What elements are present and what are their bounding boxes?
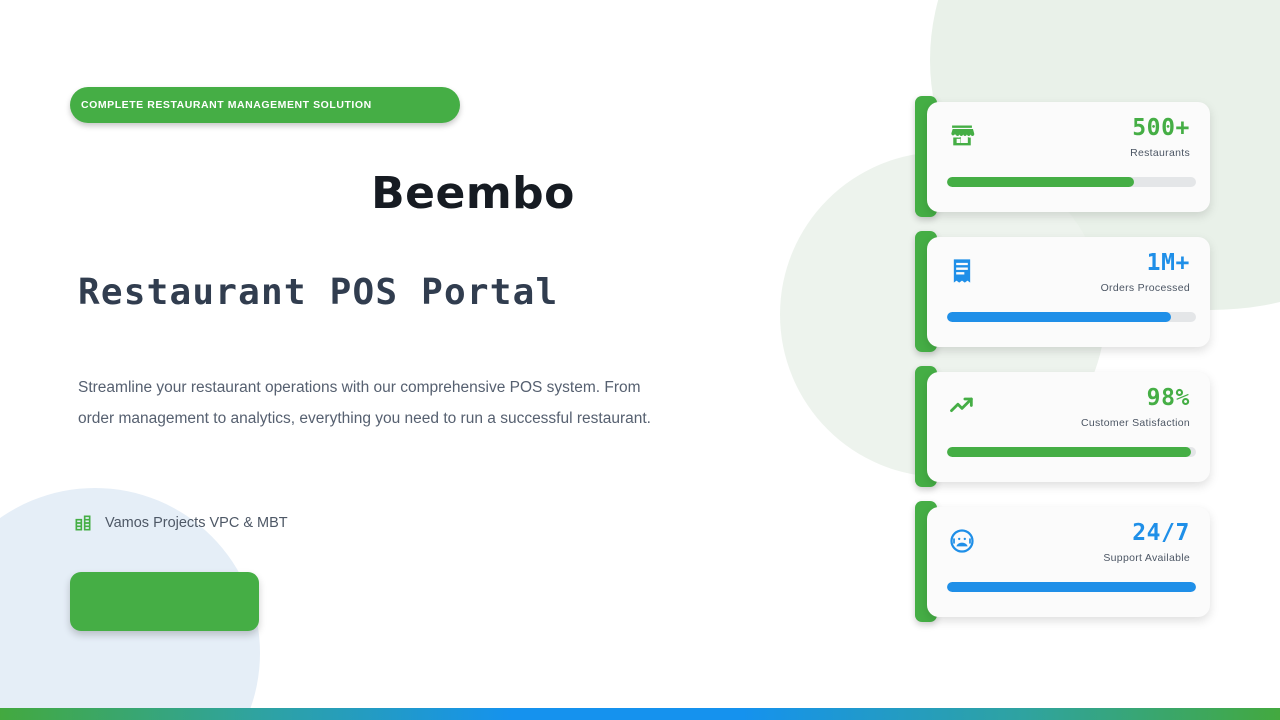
stat-card-body: 24/7 Support Available	[927, 507, 1210, 617]
company-attribution: Vamos Projects VPC & MBT	[72, 512, 288, 534]
stat-progress-fill	[947, 177, 1134, 187]
stat-card[interactable]: 24/7 Support Available	[915, 501, 1210, 622]
solution-badge-label: COMPLETE RESTAURANT MANAGEMENT SOLUTION	[70, 99, 372, 111]
stat-label: Support Available	[1103, 552, 1190, 564]
stat-progress-fill	[947, 582, 1196, 592]
primary-cta-button[interactable]	[70, 572, 259, 631]
stats-card-list: 500+ Restaurants	[915, 96, 1210, 636]
hero-slide: COMPLETE RESTAURANT MANAGEMENT SOLUTION …	[0, 0, 1280, 720]
page-title: Restaurant POS Portal	[78, 272, 558, 313]
stat-progress-fill	[947, 312, 1171, 322]
footer-accent-strip	[0, 708, 1280, 720]
storefront-icon	[947, 121, 977, 151]
stat-card[interactable]: 1M+ Orders Processed	[915, 231, 1210, 352]
stat-label: Customer Satisfaction	[1081, 417, 1190, 429]
stat-card[interactable]: 98% Customer Satisfaction	[915, 366, 1210, 487]
stat-label: Restaurants	[1130, 147, 1190, 159]
stat-progress-track	[947, 447, 1196, 457]
building-icon	[72, 512, 94, 534]
stat-card-body: 98% Customer Satisfaction	[927, 372, 1210, 482]
stat-card[interactable]: 500+ Restaurants	[915, 96, 1210, 217]
hero-description: Streamline your restaurant operations wi…	[78, 373, 668, 434]
stat-value: 24/7	[1103, 520, 1190, 546]
stat-value: 500+	[1130, 115, 1190, 141]
stat-progress-fill	[947, 447, 1191, 457]
solution-badge: COMPLETE RESTAURANT MANAGEMENT SOLUTION	[70, 87, 460, 123]
stat-label: Orders Processed	[1101, 282, 1190, 294]
brand-title: Beembo	[78, 168, 868, 219]
headset-support-icon	[947, 526, 977, 556]
stat-progress-track	[947, 177, 1196, 187]
hero-left-column: COMPLETE RESTAURANT MANAGEMENT SOLUTION …	[0, 0, 700, 720]
trending-up-icon	[947, 391, 977, 421]
stat-progress-track	[947, 582, 1196, 592]
stat-progress-track	[947, 312, 1196, 322]
stat-value: 1M+	[1101, 250, 1190, 276]
stat-value: 98%	[1081, 385, 1190, 411]
stat-card-body: 1M+ Orders Processed	[927, 237, 1210, 347]
receipt-icon	[947, 256, 977, 286]
stat-card-body: 500+ Restaurants	[927, 102, 1210, 212]
company-name-label: Vamos Projects VPC & MBT	[105, 515, 288, 531]
